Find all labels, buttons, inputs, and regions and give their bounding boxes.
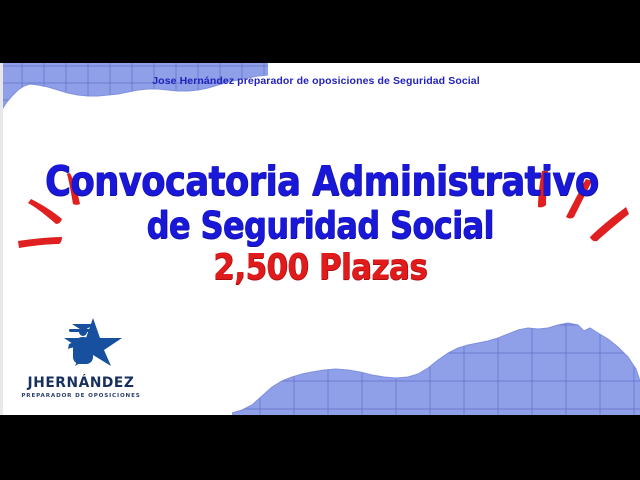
logo-tagline: PREPARADOR DE OPOSICIONES [17,393,145,399]
video-frame: Jose Hernández preparador de oposiciones… [0,0,640,480]
top-area-chart-decoration [0,63,268,115]
logo-wordmark: JHERNÁNDEZ [20,375,142,391]
headline-block: Convocatoria Administrativo de Seguridad… [0,161,640,286]
presenter-byline: Jose Hernández preparador de oposiciones… [0,75,640,87]
headline-line-2: de Seguridad Social [45,207,595,244]
star-graduate-logo-icon [17,316,145,368]
headline-line-1: Convocatoria Administrativo [45,161,595,202]
brand-logo: JHERNÁNDEZ PREPARADOR DE OPOSICIONES [17,316,145,399]
letterbox-bar-bottom [0,415,640,480]
letterbox-bar-top [0,0,640,63]
bottom-area-chart-decoration [232,295,640,415]
headline-line-3: 2,500 Plazas [45,250,595,286]
slide-left-edge [0,63,3,415]
slide-canvas: Jose Hernández preparador de oposiciones… [0,63,640,415]
